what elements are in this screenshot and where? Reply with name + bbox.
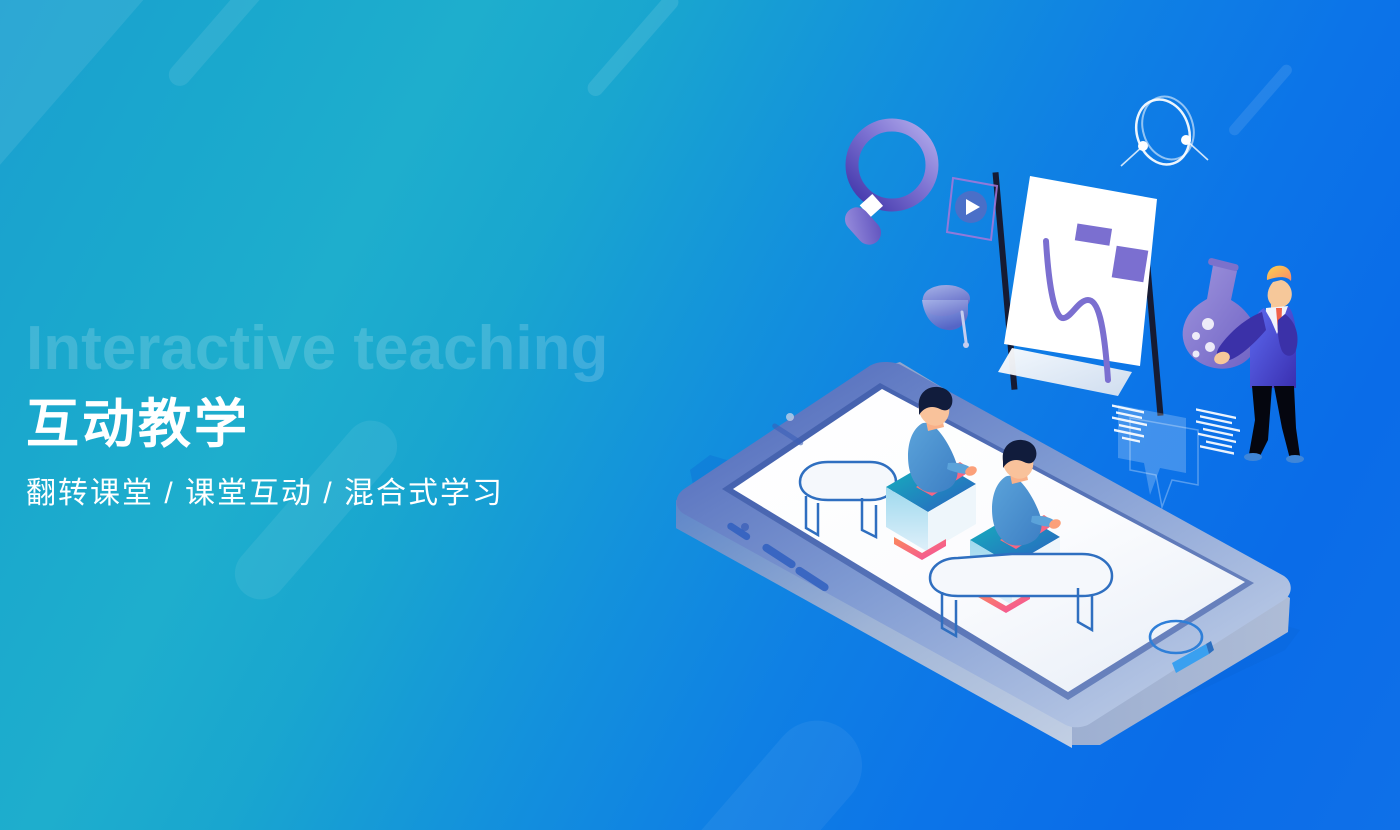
graduation-cap-icon	[922, 285, 970, 348]
teacher-figure	[1183, 257, 1304, 463]
headline-block: Interactive teaching 互动教学 翻转课堂 / 课堂互动 / …	[26, 318, 608, 512]
video-play-icon	[947, 178, 997, 240]
magnifier-icon	[840, 125, 932, 250]
page-title: 互动教学	[26, 396, 608, 454]
interactive-teaching-banner: Interactive teaching 互动教学 翻转课堂 / 课堂互动 / …	[0, 0, 1400, 830]
whiteboard-easel	[993, 172, 1164, 416]
ghost-title: Interactive teaching	[26, 318, 608, 380]
page-subtitle: 翻转课堂 / 课堂互动 / 混合式学习	[26, 476, 608, 512]
tablet-device	[676, 362, 1300, 748]
